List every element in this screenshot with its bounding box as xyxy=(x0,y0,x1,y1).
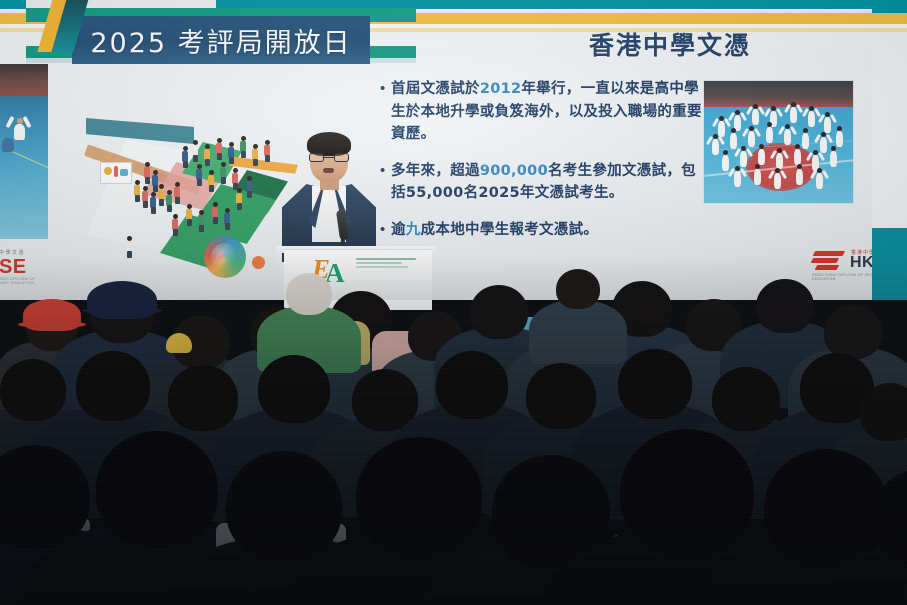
illustration-person xyxy=(204,144,211,162)
illustration-person xyxy=(216,138,223,156)
left-photo-wall xyxy=(0,64,48,96)
illustration-platform-side xyxy=(86,118,194,144)
illustration-person xyxy=(232,168,239,186)
audience-person-body xyxy=(529,300,628,364)
bullet-item-3: • 逾九成本地中學生報考文憑試。 xyxy=(380,219,710,242)
audience-person-head xyxy=(168,365,238,431)
audience-person-head xyxy=(712,367,780,431)
audience-person-head xyxy=(436,351,508,419)
audience-person-head xyxy=(286,273,332,315)
audience-person-head xyxy=(226,451,342,561)
illustration-person xyxy=(236,188,243,206)
photo-student-figure xyxy=(820,137,827,153)
photo-student-figure xyxy=(824,117,831,133)
speaker-presenter xyxy=(276,132,382,262)
photo-student-figure xyxy=(722,155,729,171)
audience-person-head xyxy=(96,431,218,547)
audience-person-head xyxy=(556,269,600,309)
audience-person-head xyxy=(0,359,66,421)
bullet-item-2: • 多年來，超過900,000名考生參加文憑試，包括55,000名2025年文憑… xyxy=(380,160,710,205)
event-title-banner: 2025 考評局開放日 xyxy=(72,16,370,64)
presentation-photo: 2025 考評局開放日 香港中學文憑 • 首屆文憑試於2012年舉行，一直以來是… xyxy=(0,0,907,605)
audience-person-head xyxy=(470,285,528,339)
audience-yellow-phone xyxy=(166,333,192,353)
photo-student-figure xyxy=(802,133,809,149)
left-photo-figure-arm-l xyxy=(5,116,14,128)
photo-student-figure xyxy=(776,153,783,169)
photo-student-figure xyxy=(754,169,761,185)
photo-student-figure xyxy=(784,129,791,145)
speaker-mouth xyxy=(323,168,334,173)
audience-person-head xyxy=(526,363,596,429)
inset-photo-students-jumping xyxy=(703,80,854,204)
photo-student-figure xyxy=(830,151,837,167)
audience-area xyxy=(0,255,907,605)
photo-student-figure xyxy=(836,131,843,147)
right-band-white xyxy=(872,32,907,228)
audience-person-head xyxy=(824,305,882,359)
illustration-person xyxy=(198,210,205,228)
left-photo-student-celebrating xyxy=(0,64,48,239)
slide-bullet-list: • 首屆文憑試於2012年舉行，一直以來是高中學生於本地升學或負笈海外，以及投入… xyxy=(380,78,710,255)
illustration-whiteboard xyxy=(100,162,132,184)
audience-person-head xyxy=(76,351,150,421)
photo-wall xyxy=(704,81,854,109)
right-band-amber xyxy=(872,13,907,24)
audience-person-head xyxy=(618,349,692,419)
bullet-text-1: 首屆文憑試於2012年舉行，一直以來是高中學生於本地升學或負笈海外，以及投入職場… xyxy=(391,78,710,146)
illustration-person xyxy=(212,202,219,220)
audience-person-head xyxy=(756,279,814,333)
illustration-person xyxy=(144,162,151,180)
illustration-person xyxy=(186,204,193,222)
audience-person-head xyxy=(258,355,330,423)
photo-student-figure xyxy=(730,133,737,149)
illustration-person xyxy=(172,214,179,232)
illustration-person xyxy=(196,164,203,182)
illustration-person xyxy=(158,184,165,202)
event-title-text: 2025 考評局開放日 xyxy=(90,21,351,60)
photo-student-figure xyxy=(752,109,759,125)
illustration-person xyxy=(240,136,247,154)
photo-student-figure xyxy=(758,149,765,165)
illustration-person xyxy=(150,192,157,210)
audience-person-head xyxy=(620,429,754,555)
audience-person-head xyxy=(764,449,888,567)
illustration-person xyxy=(142,186,149,204)
left-photo-figure-2 xyxy=(2,138,14,152)
illustration-person xyxy=(192,140,199,158)
photo-student-figure xyxy=(808,111,815,127)
illustration-person xyxy=(126,236,133,254)
photo-student-figure xyxy=(790,107,797,123)
photo-student-figure xyxy=(718,121,725,137)
bullet-item-1: • 首屆文憑試於2012年舉行，一直以來是高中學生於本地升學或負笈海外，以及投入… xyxy=(380,78,710,146)
audience-cap-brim xyxy=(82,307,162,314)
photo-student-figure xyxy=(748,131,755,147)
photo-student-figure xyxy=(766,127,773,143)
photo-student-figure xyxy=(774,173,781,189)
photo-student-figure xyxy=(712,139,719,155)
photo-student-figure xyxy=(796,169,803,185)
illustration-person xyxy=(182,146,189,164)
illustration-person xyxy=(224,208,231,226)
illustration-person xyxy=(246,176,253,194)
photo-student-figure xyxy=(816,173,823,189)
right-band-amber-2 xyxy=(872,28,907,32)
illustration-person xyxy=(252,144,259,162)
photo-student-figure xyxy=(734,171,741,187)
illustration-person xyxy=(174,182,181,200)
slide-heading-text: 香港中學文憑 xyxy=(589,26,751,62)
bullet-text-3: 逾九成本地中學生報考文憑試。 xyxy=(391,219,598,242)
illustration-person xyxy=(208,170,215,188)
illustration-person xyxy=(166,190,173,208)
bullet-text-2: 多年來，超過900,000名考生參加文憑試，包括55,000名2025年文憑試考… xyxy=(391,160,710,205)
audience-cap-brim xyxy=(18,321,86,328)
illustration-person xyxy=(264,140,271,158)
glasses-icon xyxy=(309,153,349,162)
illustration-person xyxy=(134,180,141,198)
illustration-person xyxy=(228,142,235,160)
slide-heading: 香港中學文憑 xyxy=(470,26,870,62)
audience-person-head xyxy=(860,383,907,441)
illustration-person xyxy=(220,162,227,180)
left-photo-figure-body xyxy=(14,124,25,140)
photo-student-figure xyxy=(740,151,747,167)
photo-student-figure xyxy=(794,149,801,165)
audience-person-head xyxy=(356,437,482,555)
